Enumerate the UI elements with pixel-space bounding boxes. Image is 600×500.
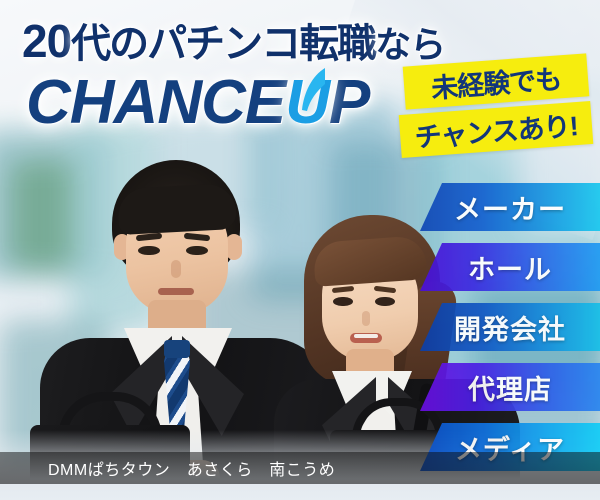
category-label-hall: ホール (468, 248, 552, 287)
caption-bar: DMMぱちタウン あさくら 南こうめ (0, 452, 600, 484)
chance-up-logo: CHANCEUP (26, 72, 369, 134)
category-label-maker: メーカー (454, 188, 566, 227)
category-button-maker[interactable]: メーカー (420, 183, 600, 231)
category-button-agency[interactable]: 代理店 (420, 363, 600, 411)
headline-tail: なら (375, 24, 445, 65)
caption-text: DMMぱちタウン あさくら 南こうめ (48, 456, 335, 480)
category-button-hall[interactable]: ホール (420, 243, 600, 291)
chance-up-banner: 20代のパチンコ転職なら CHANCEUP 未経験でも チャンスあり! メーカー… (0, 0, 600, 500)
headline: 20代のパチンコ転職なら (22, 18, 445, 68)
headline-number: 20 (22, 15, 71, 67)
logo-p-text: P (329, 68, 369, 137)
headline-main: 代のパチンコ転職 (71, 22, 375, 66)
logo-chance-text: CHANCE (26, 68, 285, 137)
category-button-development-company[interactable]: 開発会社 (420, 303, 600, 351)
badge-no-experience-label: 未経験でも (430, 57, 563, 105)
category-label-agency: 代理店 (468, 368, 552, 407)
logo-u-text: U (285, 68, 329, 137)
category-label-development-company: 開発会社 (454, 308, 566, 347)
